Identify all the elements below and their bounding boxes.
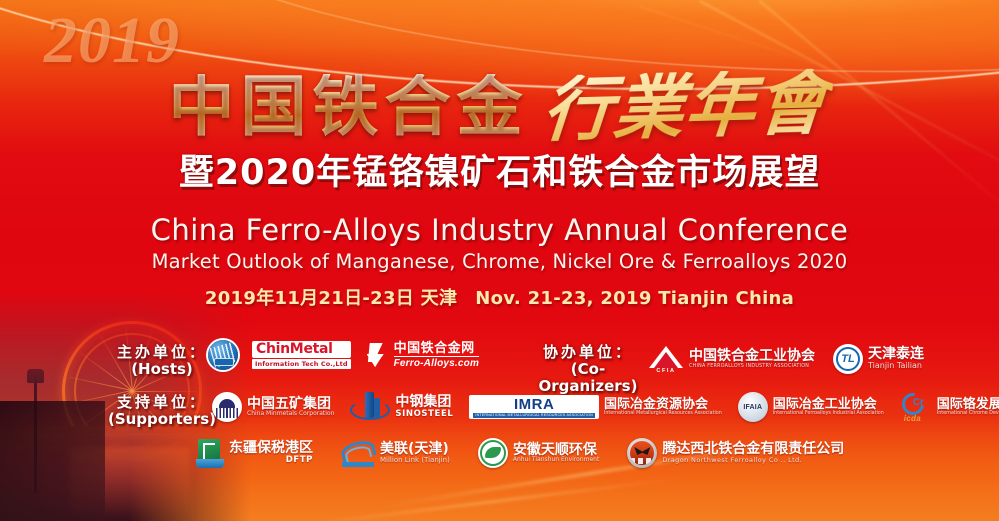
supporters-label: 支持单位： (Supporters) (104, 394, 220, 428)
logo-million-link[interactable]: 美联(天津) Million Link (Tianjin) (341, 439, 450, 467)
co-organizers-label: 协办单位： (Co-Organizers) (524, 344, 652, 394)
sinosteel-icon (350, 392, 390, 422)
main-title: 中国铁合金 行業年會 (0, 52, 999, 144)
chinmetal-wordmark: ChinMetal (252, 341, 351, 359)
icda-en: International Chrome Development Associa… (937, 411, 999, 416)
logo-dragon-northwest[interactable]: 腾达西北铁合金有限责任公司 Dragon Northwest Ferroallo… (627, 438, 844, 468)
ferro-alloys-en: Ferro-Alloys.com (394, 358, 479, 369)
blue-globe-icon (208, 340, 238, 370)
hosts-label-cn: 主办单位： (112, 344, 212, 361)
imra-icon: IMRA INTERNATIONAL METALLURGICAL RESOURC… (469, 395, 599, 419)
tianshun-cn: 安徽天顺环保 (513, 443, 599, 458)
date-location-line: 2019年11月21日-23日 天津Nov. 21-23, 2019 Tianj… (0, 284, 999, 310)
logo-ifaia[interactable]: IFAIA 国际冶金工业协会 International Ferroalloys… (738, 392, 884, 422)
subtitle-chinese: 暨2020年锰铬镍矿石和铁合金市场展望 (0, 154, 999, 193)
logo-china-minmetals[interactable]: 中国五矿集团 China Minmetals Corporation (212, 392, 334, 422)
co-organizers-label-cn: 协办单位： (524, 344, 652, 361)
co-organizers-label-en: (Co-Organizers) (524, 361, 652, 395)
sinosteel-en: SINOSTEEL (395, 410, 453, 419)
date-chinese: 2019年11月21日-23日 天津 (205, 288, 457, 309)
million-link-icon (341, 439, 375, 467)
logo-tianjin-tailian[interactable]: TL 天津泰连 Tianjin Tailian (833, 344, 924, 374)
tailian-en: Tianjin Tailian (868, 362, 924, 370)
logo-chinmetal-globe[interactable] (208, 340, 238, 370)
dragon-northwest-icon (627, 438, 657, 468)
ifaia-icon: IFAIA (738, 392, 768, 422)
conference-banner: 2019 中国铁合金 行業年會 暨2020年锰铬镍矿石和铁合金市场展望 Chin… (0, 0, 999, 521)
english-title-block: China Ferro-Alloys Industry Annual Confe… (0, 213, 999, 274)
ifaia-cn: 国际冶金工业协会 (773, 398, 884, 412)
icda-cn: 国际铬发展协会 (937, 398, 999, 412)
logo-chinmetal[interactable]: ChinMetal Information Tech Co.,Ltd (252, 341, 351, 370)
cfia-en: CHINA FERROALLOYS INDUSTRY ASSOCIATION (689, 364, 815, 369)
ferro-alloys-icon: 中国铁合金网 Ferro-Alloys.com (365, 341, 479, 369)
logo-dftp[interactable]: 东疆保税港区 DFTP (196, 438, 313, 468)
logo-imra[interactable]: IMRA INTERNATIONAL METALLURGICAL RESOURC… (469, 395, 721, 419)
logo-sinosteel[interactable]: 中钢集团 SINOSTEEL (350, 392, 453, 422)
chinmetal-icon: ChinMetal Information Tech Co.,Ltd (252, 341, 351, 370)
anhui-tianshun-icon (478, 438, 508, 468)
dragon-nw-cn: 腾达西北铁合金有限责任公司 (662, 442, 844, 457)
million-link-cn: 美联(天津) (380, 442, 450, 457)
title-english-main: China Ferro-Alloys Industry Annual Confe… (0, 213, 999, 247)
ferro-alloys-cn: 中国铁合金网 (394, 341, 479, 357)
logo-anhui-tianshun[interactable]: 安徽天顺环保 Anhui Tianshun Environment (478, 438, 599, 468)
tianjin-tailian-icon: TL (833, 344, 863, 374)
title-chinese-block: 中国铁合金 (169, 74, 529, 144)
ifaia-en: International Ferroalloys Industrial Ass… (773, 411, 884, 416)
supporters-label-cn: 支持单位： (104, 394, 220, 411)
supporters-logo-row-2: 东疆保税港区 DFTP 美联(天津) Million Link (Tianjin… (196, 438, 844, 468)
hosts-logo-row: ChinMetal Information Tech Co.,Ltd 中国铁合金… (208, 340, 479, 370)
sponsor-section: 主办单位： (Hosts) ChinMetal Information Tech… (0, 336, 999, 493)
cfia-cn: 中国铁合金工业协会 (689, 349, 815, 364)
title-english-sub: Market Outlook of Manganese, Chrome, Nic… (0, 250, 999, 273)
minmetals-cn: 中国五矿集团 (247, 397, 334, 412)
title-block: 中国铁合金 行業年會 暨2020年锰铬镍矿石和铁合金市场展望 (0, 52, 999, 193)
co-organizers-logo-row: CFIA 中国铁合金工业协会 CHINA FERROALLOYS INDUSTR… (648, 344, 924, 374)
dftp-cn: 东疆保税港区 (229, 441, 313, 456)
minmetals-en: China Minmetals Corporation (247, 411, 334, 417)
tailian-cn: 天津泰连 (868, 347, 924, 362)
supporters-label-en: (Supporters) (104, 411, 220, 428)
logo-icda[interactable]: Cricda 国际铬发展协会 International Chrome Deve… (900, 392, 999, 422)
hosts-label-en: (Hosts) (112, 361, 212, 378)
million-link-en: Million Link (Tianjin) (380, 457, 450, 464)
tianshun-en: Anhui Tianshun Environment (513, 457, 599, 463)
sinosteel-cn: 中钢集团 (395, 395, 453, 410)
ferro-alloys-glyph (365, 342, 391, 368)
icda-icon: Cricda (900, 392, 932, 422)
imra-cn: 国际冶金资源协会 (604, 398, 722, 412)
china-minmetals-icon (212, 392, 242, 422)
dftp-icon (196, 438, 224, 468)
dragon-nw-en: Dragon Northwest Ferroalloy Co ., Ltd. (662, 457, 844, 464)
imra-en: International Metallurgical Resources As… (604, 411, 722, 416)
logo-ferro-alloys[interactable]: 中国铁合金网 Ferro-Alloys.com (365, 341, 479, 369)
title-chinese-calligraphy: 行業年會 (531, 68, 833, 148)
logo-china-ferroalloys-industry-association[interactable]: CFIA 中国铁合金工业协会 CHINA FERROALLOYS INDUSTR… (648, 345, 815, 373)
dftp-en: DFTP (229, 456, 313, 465)
hosts-label: 主办单位： (Hosts) (112, 344, 212, 378)
supporters-logo-row-1: 中国五矿集团 China Minmetals Corporation 中钢集团 … (212, 392, 999, 422)
cfia-icon: CFIA (648, 345, 684, 373)
chinmetal-tagline: Information Tech Co.,Ltd (252, 359, 351, 369)
date-english: Nov. 21-23, 2019 Tianjin China (475, 288, 794, 309)
